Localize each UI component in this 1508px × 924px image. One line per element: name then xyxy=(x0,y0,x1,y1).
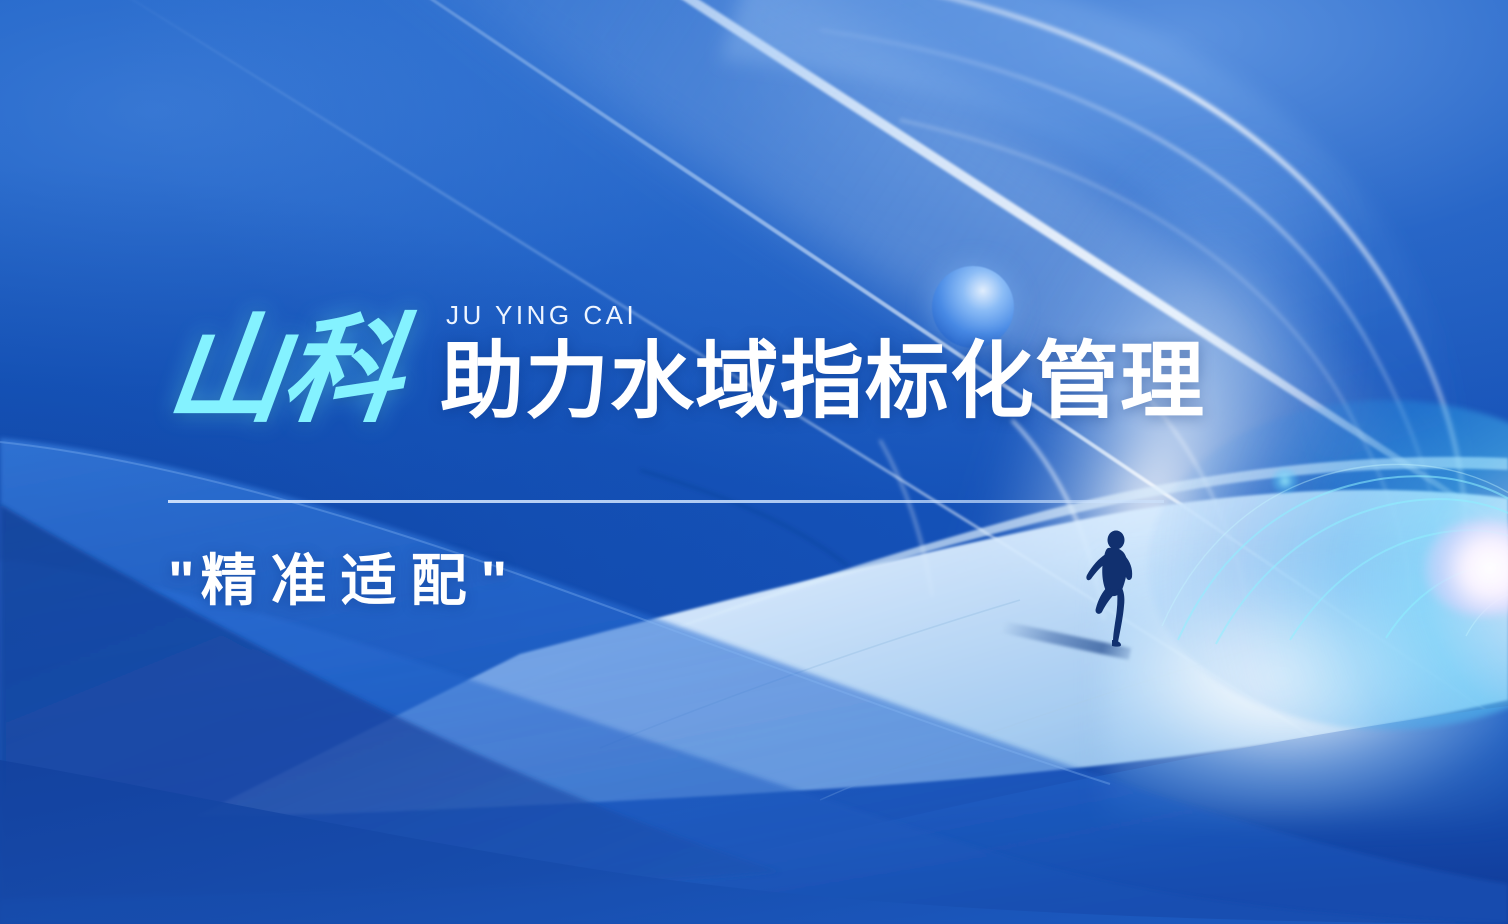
tagline-row: "精准适配" xyxy=(168,536,513,617)
title-row: 山科 JU YING CAI 助力水域指标化管理 xyxy=(168,300,1205,427)
promo-banner: 山科 JU YING CAI 助力水域指标化管理 "精准适配" xyxy=(0,0,1508,924)
brand-logo-text: 山科 xyxy=(161,316,407,427)
tagline-text: 精准适配 xyxy=(201,549,481,612)
brand-pinyin-text: JU YING CAI xyxy=(446,300,1205,331)
banner-text-content: 山科 JU YING CAI 助力水域指标化管理 "精准适配" xyxy=(0,0,1508,924)
headline-text: 助力水域指标化管理 xyxy=(440,339,1205,423)
divider-line xyxy=(168,500,1164,503)
headline-column: JU YING CAI 助力水域指标化管理 xyxy=(440,300,1205,427)
open-quote-mark: " xyxy=(168,549,201,612)
close-quote-mark: " xyxy=(481,549,514,612)
